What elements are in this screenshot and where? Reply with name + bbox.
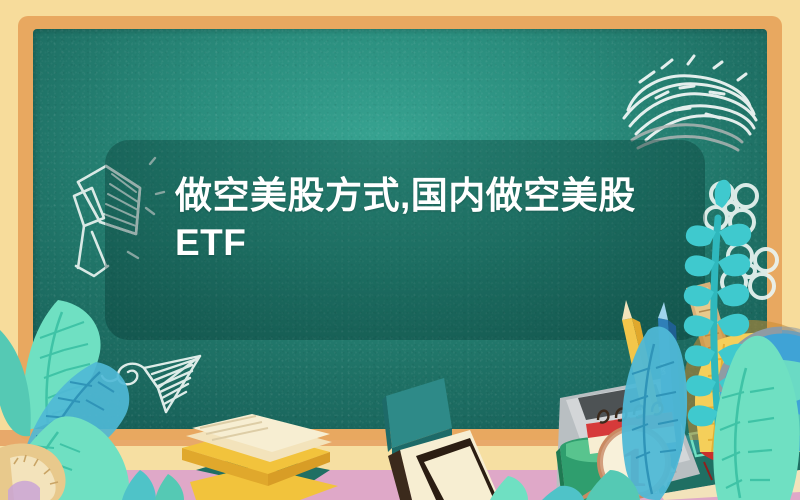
desk-band-pink	[0, 470, 800, 500]
page-title: 做空美股方式,国内做空美股ETF	[175, 172, 695, 266]
desk-band-cream	[0, 446, 800, 470]
poster-canvas: 做空美股方式,国内做空美股ETF	[0, 0, 800, 500]
